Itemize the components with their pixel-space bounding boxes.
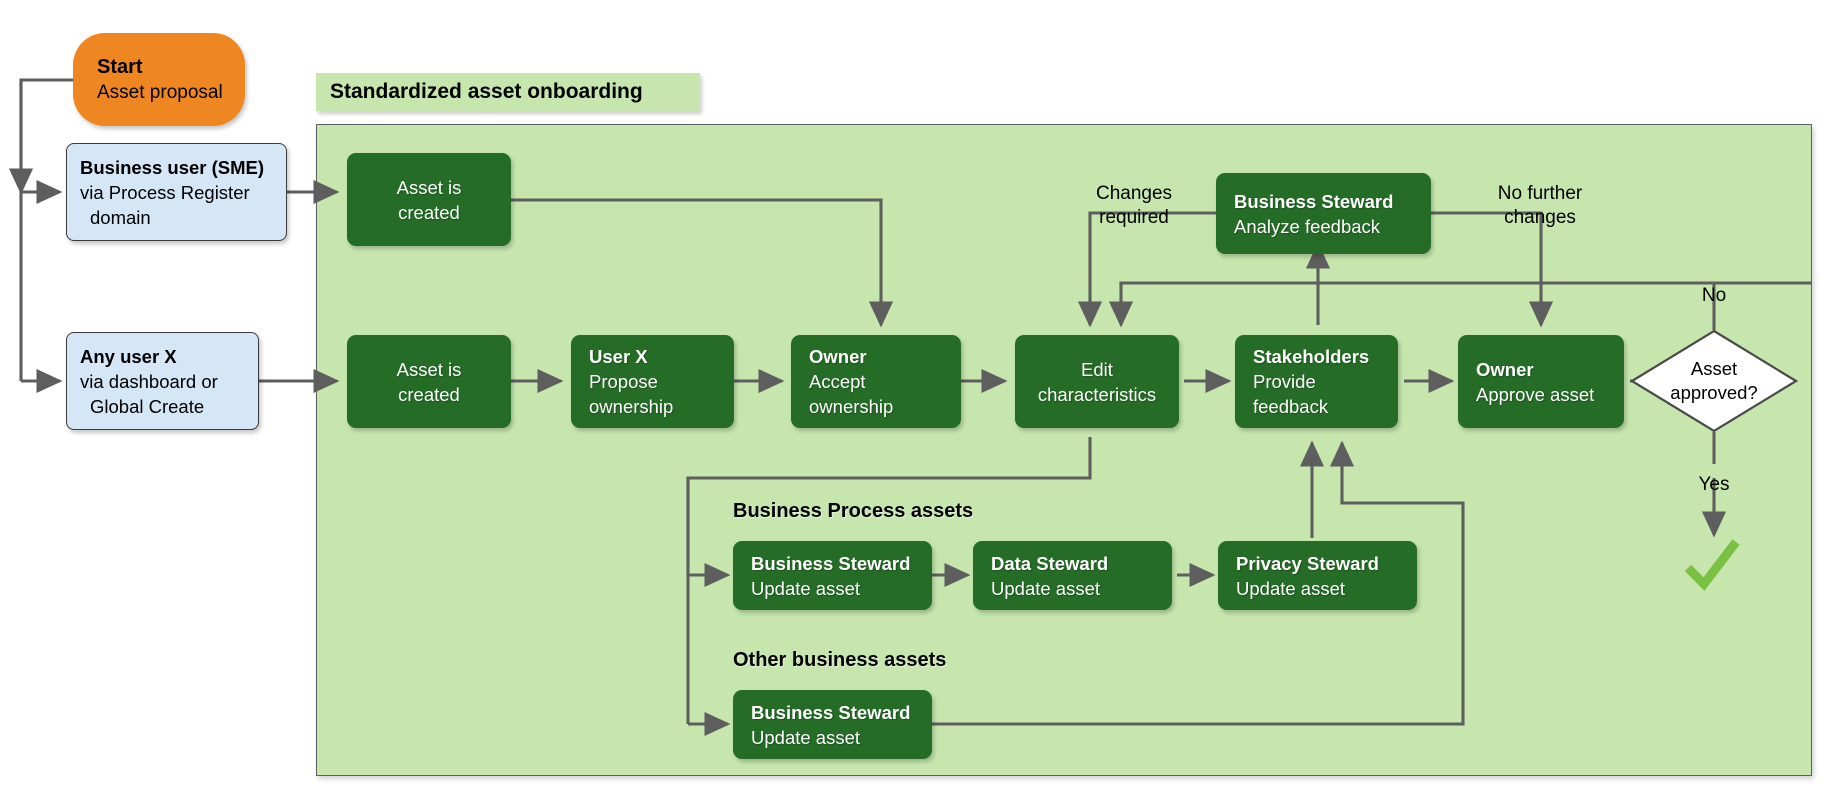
diagram-canvas: Standardized asset onboarding [0,0,1840,804]
node-title: Business Steward [751,551,932,576]
actor-line3: Global Create [80,394,248,419]
sublane-label: Other business assets [733,649,946,671]
node-title: Stakeholders [1253,344,1398,369]
edge-label-text: No [1702,285,1726,306]
process-node-edit-characteristics: Edit characteristics [1015,335,1179,428]
node-title: Owner [1476,357,1624,382]
process-node-other-business-steward-update-asset: Business Steward Update asset [733,690,932,759]
start-node: Start Asset proposal [73,33,245,126]
edge-label-text: No further changes [1498,183,1582,228]
node-title: Business Steward [1234,189,1431,214]
node-title: Privacy Steward [1236,551,1417,576]
node-line1: Asset is [397,175,462,200]
actor-node-any-user-x: Any user X via dashboard or Global Creat… [66,332,259,430]
node-title: Business Steward [751,700,932,725]
actor-line2: via dashboard or [80,369,248,394]
node-line3: ownership [809,394,961,419]
sublane-title-business-process-assets: Business Process assets [733,500,973,523]
edge-label-changes-required: Changes required [1062,158,1206,230]
group-title-label: Standardized asset onboarding [330,80,643,104]
process-node-asset-created-top: Asset is created [347,153,511,246]
process-node-owner-accept-ownership: Owner Accept ownership [791,335,961,428]
decision-line1: Asset [1691,357,1737,381]
node-line2: characteristics [1038,382,1156,407]
node-line2: Update asset [751,576,932,601]
process-node-bp-data-steward-update-asset: Data Steward Update asset [973,541,1172,610]
node-line1: Asset is [397,357,462,382]
check-icon [1680,536,1746,592]
start-title: Start [97,55,245,80]
process-node-user-x-propose-ownership: User X Propose ownership [571,335,734,428]
process-node-bp-business-steward-update-asset: Business Steward Update asset [733,541,932,610]
actor-title: Business user (SME) [80,155,276,180]
node-line2: Analyze feedback [1234,214,1431,239]
node-title: Data Steward [991,551,1172,576]
node-line2: Update asset [991,576,1172,601]
decision-label: Asset approved? [1630,329,1798,433]
node-line1: Edit [1081,357,1113,382]
process-node-business-steward-analyze-feedback: Business Steward Analyze feedback [1216,173,1431,254]
edge-label-no: No [1676,260,1752,308]
edge-label-no-further-changes: No further changes [1455,158,1625,230]
start-subtitle: Asset proposal [97,80,245,105]
node-line3: ownership [589,394,734,419]
process-node-asset-created-mid: Asset is created [347,335,511,428]
node-line2: created [398,382,460,407]
node-line2: Accept [809,369,961,394]
process-node-bp-privacy-steward-update-asset: Privacy Steward Update asset [1218,541,1417,610]
node-line3: feedback [1253,394,1398,419]
node-title: User X [589,344,734,369]
process-node-owner-approve-asset: Owner Approve asset [1458,335,1624,428]
edge-label-text: Changes required [1096,183,1172,228]
actor-line2: via Process Register [80,180,276,205]
node-line2: Update asset [1236,576,1417,601]
process-node-stakeholders-provide-feedback: Stakeholders Provide feedback [1235,335,1398,428]
decision-node-asset-approved: Asset approved? [1630,329,1798,433]
actor-line3: domain [80,205,276,230]
decision-line2: approved? [1670,381,1757,405]
edge-label-yes: Yes [1676,449,1752,497]
edge-label-text: Yes [1699,474,1730,495]
node-line2: Approve asset [1476,382,1624,407]
node-line2: Propose [589,369,734,394]
node-line2: created [398,200,460,225]
actor-title: Any user X [80,344,248,369]
node-line2: Provide [1253,369,1398,394]
node-title: Owner [809,344,961,369]
actor-node-business-user-sme: Business user (SME) via Process Register… [66,143,287,241]
node-line2: Update asset [751,725,932,750]
sublane-label: Business Process assets [733,500,973,522]
group-title-banner: Standardized asset onboarding [316,73,700,111]
sublane-title-other-business-assets: Other business assets [733,649,946,672]
